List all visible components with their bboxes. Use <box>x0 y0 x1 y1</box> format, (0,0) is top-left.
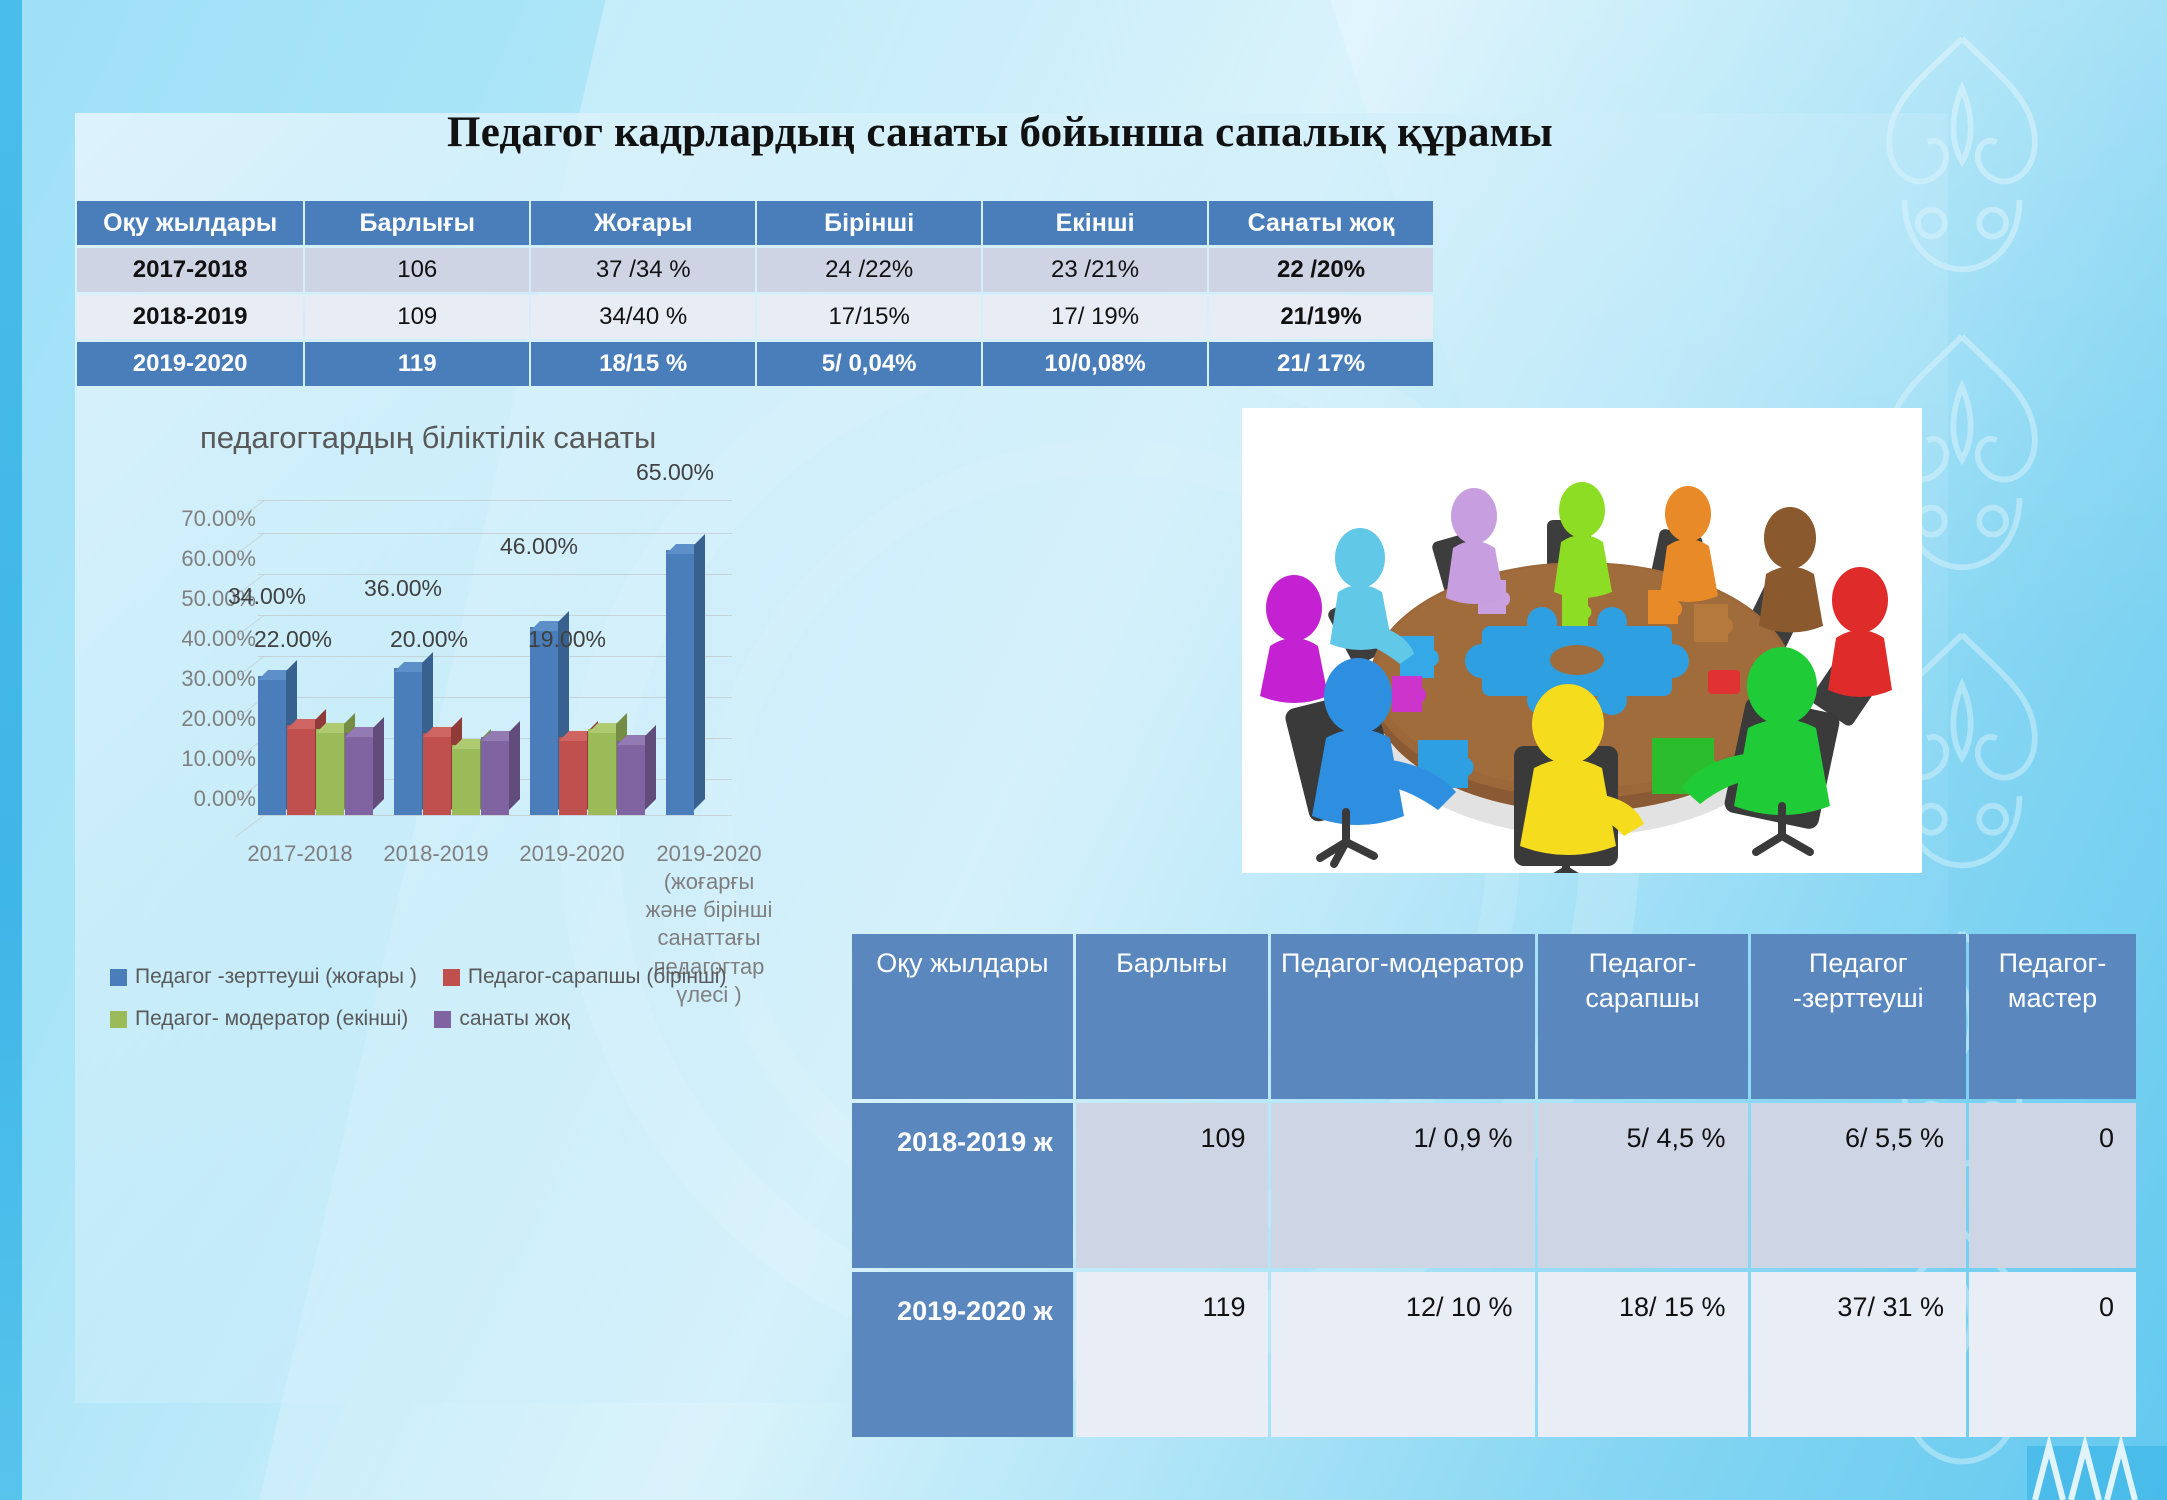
data-label: 20.00% <box>390 626 468 653</box>
bcell-total: 109 <box>1076 1103 1268 1268</box>
legend-item-expert[interactable]: Педагог-сарапшы (бірінші) <box>443 965 727 989</box>
data-label: 19.00% <box>528 626 606 653</box>
cell-year: 2017-2018 <box>77 248 303 292</box>
data-label: 46.00% <box>500 533 578 560</box>
cell-none: 21/19% <box>1209 295 1433 339</box>
y-tick: 70.00% <box>181 508 256 530</box>
table-row: 2018-2019 109 34/40 % 17/15% 17/ 19% 21/… <box>77 295 1433 339</box>
bar-group-2018-2019 <box>394 525 508 815</box>
bcell-expert: 5/ 4,5 % <box>1538 1103 1748 1268</box>
bth-years: Оқу жылдары <box>852 934 1073 1099</box>
x-tick-2018-2019: 2018-2019 <box>376 840 496 868</box>
table-row: 2017-2018 106 37 /34 % 24 /22% 23 /21% 2… <box>77 248 1433 292</box>
bar-researcher <box>530 627 558 815</box>
bar-no-category <box>617 741 645 815</box>
gridline-axis <box>258 815 732 816</box>
y-tick: 40.00% <box>181 628 256 650</box>
bcell-master: 0 <box>1969 1103 2136 1268</box>
cell-high: 34/40 % <box>531 295 755 339</box>
data-label: 36.00% <box>364 575 442 602</box>
x-tick-2017-2018: 2017-2018 <box>240 840 360 868</box>
bar-moderator <box>316 729 344 815</box>
cell-high: 18/15 % <box>531 342 755 386</box>
chart-plot-area: 34.00% 22.00% 36.00% 20.00% 46.00% 19.00… <box>258 525 858 815</box>
bar-no-category <box>481 737 509 815</box>
th-high: Жоғары <box>531 201 755 245</box>
bcell-total: 119 <box>1076 1272 1268 1437</box>
bcell-moderator: 1/ 0,9 % <box>1271 1103 1535 1268</box>
legend-swatch-expert <box>443 969 460 986</box>
bcell-researcher: 37/ 31 % <box>1751 1272 1966 1437</box>
bar-group-2017-2018 <box>258 525 372 815</box>
gridline <box>258 500 732 501</box>
bth-moderator: Педагог-модератор <box>1271 934 1535 1099</box>
bcell-researcher: 6/ 5,5 % <box>1751 1103 1966 1268</box>
bth-master: Педагог-мастер <box>1969 934 2136 1099</box>
legend-label: Педагог-сарапшы (бірінші) <box>468 965 727 989</box>
cell-none: 21/ 17% <box>1209 342 1433 386</box>
cell-first: 17/15% <box>757 295 981 339</box>
cell-total: 106 <box>305 248 529 292</box>
bth-researcher: Педагог -зерттеуші <box>1751 934 1966 1099</box>
pedagogue-status-table: Оқу жылдары Барлығы Педагог-модератор Пе… <box>849 930 2139 1441</box>
table-row: 2019-2020 ж 119 12/ 10 % 18/ 15 % 37/ 31… <box>852 1272 2136 1437</box>
th-first: Бірінші <box>757 201 981 245</box>
chart-y-axis: 70.00% 60.00% 50.00% 40.00% 30.00% 20.00… <box>160 508 256 828</box>
legend-swatch-researcher <box>110 969 127 986</box>
chart-legend: Педагог -зерттеуші (жоғары ) Педагог-сар… <box>110 965 830 1049</box>
chart-title: педагогтардың біліктілік санаты <box>200 420 656 456</box>
legend-swatch-no-category <box>434 1011 451 1028</box>
bar-expert <box>559 737 587 815</box>
table-row: 2019-2020 119 18/15 % 5/ 0,04% 10/0,08% … <box>77 342 1433 386</box>
y-tick: 60.00% <box>181 548 256 570</box>
cell-total: 109 <box>305 295 529 339</box>
bar-moderator <box>588 729 616 815</box>
th-no-category: Санаты жоқ <box>1209 201 1433 245</box>
cell-year: 2018-2019 <box>77 295 303 339</box>
legend-label: Педагог -зерттеуші (жоғары ) <box>135 965 417 989</box>
cell-first: 24 /22% <box>757 248 981 292</box>
th-second: Екінші <box>983 201 1207 245</box>
legend-item-researcher[interactable]: Педагог -зерттеуші (жоғары ) <box>110 965 417 989</box>
legend-swatch-moderator <box>110 1011 127 1028</box>
bar-moderator <box>452 745 480 815</box>
category-summary-table: Оқу жылдары Барлығы Жоғары Бірінші Екінш… <box>75 198 1435 389</box>
qualification-category-chart: педагогтардың біліктілік санаты 70.00% 6… <box>80 400 880 1100</box>
bar-expert <box>423 733 451 815</box>
cell-total: 119 <box>305 342 529 386</box>
legend-label: санаты жоқ <box>459 1007 569 1031</box>
cell-second: 17/ 19% <box>983 295 1207 339</box>
bth-expert: Педагог-сарапшы <box>1538 934 1748 1099</box>
bar-researcher <box>394 668 422 815</box>
round-table-meeting-image <box>1242 408 1922 873</box>
legend-item-no-category[interactable]: санаты жоқ <box>434 1007 569 1031</box>
bcell-moderator: 12/ 10 % <box>1271 1272 1535 1437</box>
legend-label: Педагог- модератор (екінші) <box>135 1007 408 1031</box>
bar-expert <box>287 725 315 815</box>
legend-item-moderator[interactable]: Педагог- модератор (екінші) <box>110 1007 408 1031</box>
data-label: 22.00% <box>254 626 332 653</box>
bar-group-2019-2020-combined <box>666 525 780 815</box>
bar-researcher <box>258 676 286 815</box>
x-tick-2019-2020: 2019-2020 <box>512 840 632 868</box>
th-total: Барлығы <box>305 201 529 245</box>
bar-researcher <box>666 550 694 815</box>
left-accent-bar <box>0 0 22 1500</box>
bcell-year: 2019-2020 ж <box>852 1272 1073 1437</box>
cell-high: 37 /34 % <box>531 248 755 292</box>
cell-first: 5/ 0,04% <box>757 342 981 386</box>
table-row: 2018-2019 ж 109 1/ 0,9 % 5/ 4,5 % 6/ 5,5… <box>852 1103 2136 1268</box>
data-label: 34.00% <box>228 583 306 610</box>
bcell-year: 2018-2019 ж <box>852 1103 1073 1268</box>
th-years: Оқу жылдары <box>77 201 303 245</box>
page-title: Педагог кадрлардың санаты бойынша сапалы… <box>150 108 1850 157</box>
data-label: 65.00% <box>636 459 714 486</box>
bar-group-2019-2020 <box>530 525 644 815</box>
bar-no-category <box>345 733 373 815</box>
cell-year: 2019-2020 <box>77 342 303 386</box>
table-header-row: Оқу жылдары Барлығы Педагог-модератор Пе… <box>852 934 2136 1099</box>
cell-second: 10/0,08% <box>983 342 1207 386</box>
cell-second: 23 /21% <box>983 248 1207 292</box>
table-header-row: Оқу жылдары Барлығы Жоғары Бірінші Екінш… <box>77 201 1433 245</box>
bcell-expert: 18/ 15 % <box>1538 1272 1748 1437</box>
bcell-master: 0 <box>1969 1272 2136 1437</box>
bth-total: Барлығы <box>1076 934 1268 1099</box>
cell-none: 22 /20% <box>1209 248 1433 292</box>
